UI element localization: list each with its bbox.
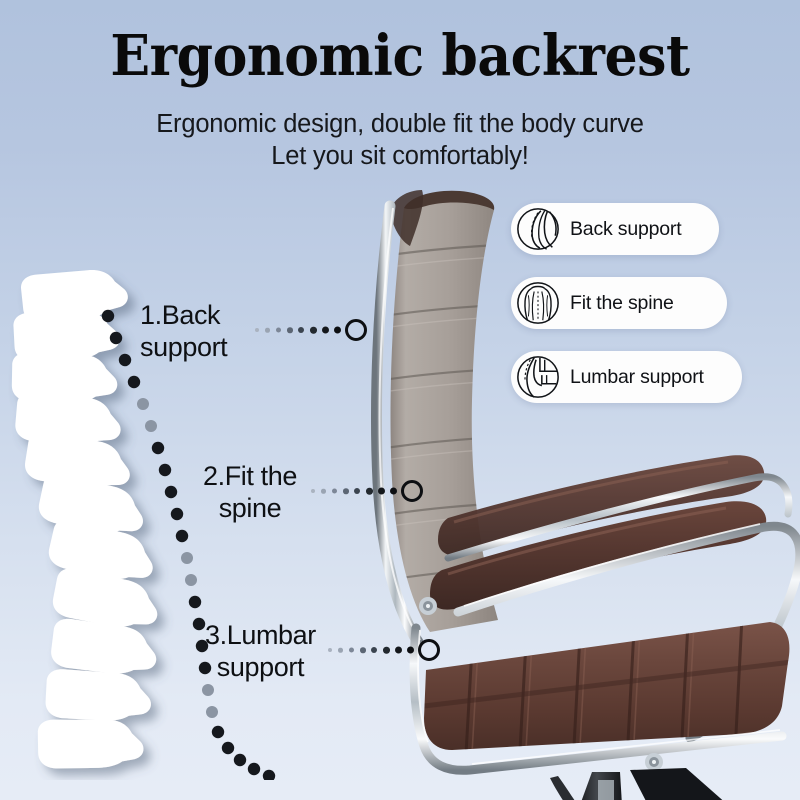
badge-label: Back support xyxy=(570,218,701,241)
subtitle-line-1: Ergonomic design, double fit the body cu… xyxy=(0,108,800,140)
callout-line-2: support xyxy=(205,652,316,684)
chair-base xyxy=(550,768,728,800)
lumbar-support-icon xyxy=(515,354,561,400)
badge-label: Lumbar support xyxy=(570,366,724,389)
callout-target-circle xyxy=(345,319,367,341)
callout-text: 1.Back support xyxy=(140,300,227,364)
back-support-icon xyxy=(515,206,561,252)
badge-fit-the-spine[interactable]: Fit the spine xyxy=(511,277,727,329)
callout-target-circle xyxy=(401,480,423,502)
badge-label: Fit the spine xyxy=(570,292,694,315)
badge-lumbar-support[interactable]: Lumbar support xyxy=(511,351,742,403)
page-title: Ergonomic backrest xyxy=(28,28,772,84)
callout-text: 2.Fit the spine xyxy=(203,461,297,525)
callout-line-1: 2.Fit the xyxy=(203,461,297,491)
callout-line-2: spine xyxy=(203,493,297,525)
callout-line-2: support xyxy=(140,332,227,364)
leader-line xyxy=(328,639,440,661)
leader-line xyxy=(311,480,423,502)
callout-target-circle xyxy=(418,639,440,661)
infographic-canvas: Ergonomic backrest Ergonomic design, dou… xyxy=(0,0,800,800)
callout-line-1: 1.Back xyxy=(140,300,220,330)
badge-back-support[interactable]: Back support xyxy=(511,203,719,255)
callout-line-1: 3.Lumbar xyxy=(205,620,316,650)
leader-line xyxy=(255,319,367,341)
callout-text: 3.Lumbar support xyxy=(205,620,316,684)
chair-seat xyxy=(424,617,792,754)
page-subtitle: Ergonomic design, double fit the body cu… xyxy=(0,108,800,172)
chair-armrest xyxy=(430,455,766,609)
spine-fit-icon xyxy=(515,280,561,326)
subtitle-line-2: Let you sit comfortably! xyxy=(0,140,800,172)
